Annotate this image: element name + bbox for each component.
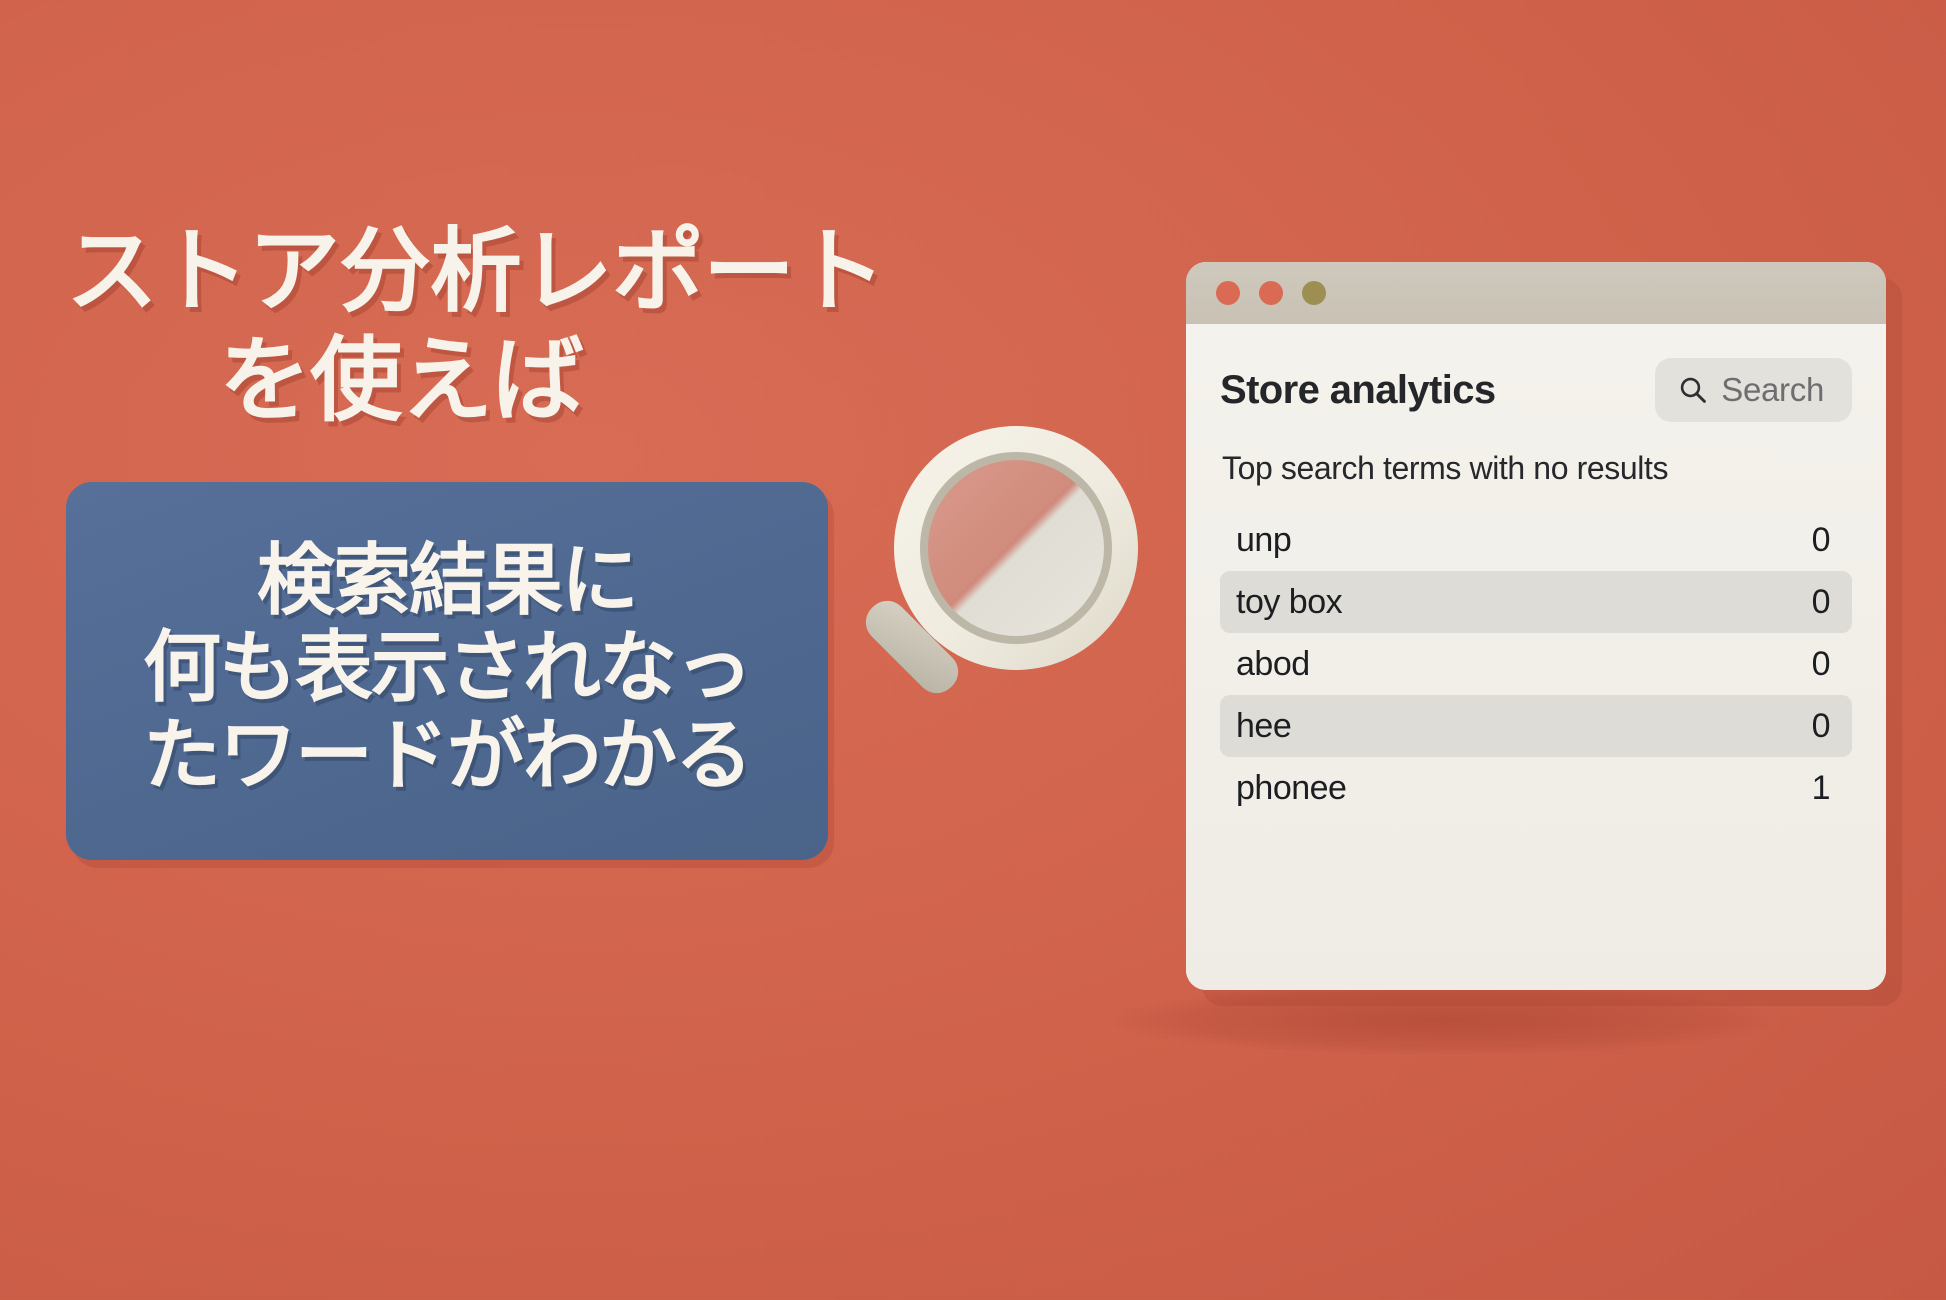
term-label: phonee xyxy=(1236,769,1346,808)
search-button-label: Search xyxy=(1721,371,1824,409)
headline-line-1: ストア分析レポート xyxy=(66,218,896,327)
term-label: abod xyxy=(1236,645,1310,684)
search-button[interactable]: Search xyxy=(1655,358,1852,422)
maximize-icon[interactable] xyxy=(1302,281,1326,305)
term-label: hee xyxy=(1236,707,1291,746)
search-icon xyxy=(1679,376,1707,404)
headline-line-2: を使えば xyxy=(66,327,896,436)
term-count: 0 xyxy=(1812,645,1830,684)
poster-canvas: ストア分析レポート を使えば 検索結果に 何も表示されなっ たワードがわかる S… xyxy=(0,0,1946,1300)
term-count: 1 xyxy=(1812,769,1830,808)
minimize-icon[interactable] xyxy=(1259,281,1283,305)
search-terms-table: unp 0 toy box 0 abod 0 hee 0 phonee xyxy=(1220,509,1852,819)
table-row[interactable]: phonee 1 xyxy=(1220,757,1852,819)
table-row[interactable]: hee 0 xyxy=(1220,695,1852,757)
callout-line-2: 何も表示されなっ xyxy=(143,624,751,711)
window-titlebar xyxy=(1186,262,1886,324)
table-row[interactable]: unp 0 xyxy=(1220,509,1852,571)
term-label: toy box xyxy=(1236,583,1342,622)
window-body: Store analytics Search Top search terms … xyxy=(1186,324,1886,990)
window-header: Store analytics Search xyxy=(1220,358,1852,422)
window-shadow xyxy=(1112,985,1772,1055)
callout-line-3: たワードがわかる xyxy=(143,712,751,799)
browser-window: Store analytics Search Top search terms … xyxy=(1186,262,1886,990)
section-subtitle: Top search terms with no results xyxy=(1222,450,1852,487)
close-icon[interactable] xyxy=(1216,281,1240,305)
term-count: 0 xyxy=(1812,583,1830,622)
table-row[interactable]: toy box 0 xyxy=(1220,571,1852,633)
headline: ストア分析レポート を使えば xyxy=(66,218,896,435)
callout-line-1: 検索結果に xyxy=(257,537,637,624)
term-label: unp xyxy=(1236,521,1291,560)
callout-box: 検索結果に 何も表示されなっ たワードがわかる xyxy=(66,482,828,860)
table-row[interactable]: abod 0 xyxy=(1220,633,1852,695)
magnifying-glass-icon xyxy=(846,408,1176,748)
term-count: 0 xyxy=(1812,707,1830,746)
term-count: 0 xyxy=(1812,521,1830,560)
page-title: Store analytics xyxy=(1220,368,1496,413)
